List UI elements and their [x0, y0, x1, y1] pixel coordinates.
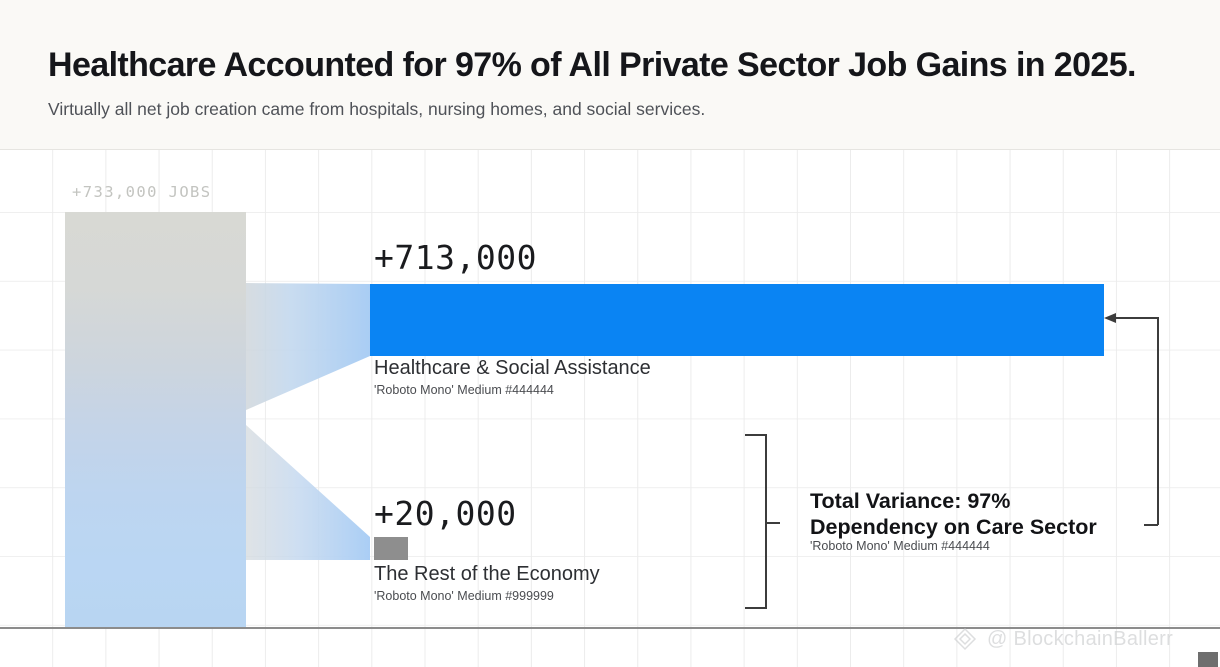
chart-plot-area: +733,000 JOBS +713,000 Healthcare & Soci… — [0, 150, 1220, 667]
annotation-lines — [0, 150, 1220, 667]
callout-title-line2: Dependency on Care Sector — [810, 514, 1097, 540]
diamond-logo-icon — [952, 626, 978, 652]
callout-title-line1: Total Variance: 97% — [810, 488, 1010, 514]
callout-note: 'Roboto Mono' Medium #444444 — [810, 539, 990, 553]
watermark: @ BlockchainBallerr — [952, 626, 1173, 652]
chart-header: Healthcare Accounted for 97% of All Priv… — [0, 0, 1220, 150]
watermark-handle: @ BlockchainBallerr — [987, 628, 1173, 651]
corner-marker — [1198, 652, 1218, 667]
variance-bracket-icon — [745, 435, 780, 608]
page-title: Healthcare Accounted for 97% of All Priv… — [48, 46, 1136, 85]
chart-page: Healthcare Accounted for 97% of All Priv… — [0, 0, 1220, 667]
page-subtitle: Virtually all net job creation came from… — [48, 99, 705, 120]
callout-arrow-line — [1111, 318, 1158, 525]
callout-arrow-head-icon — [1104, 313, 1116, 323]
